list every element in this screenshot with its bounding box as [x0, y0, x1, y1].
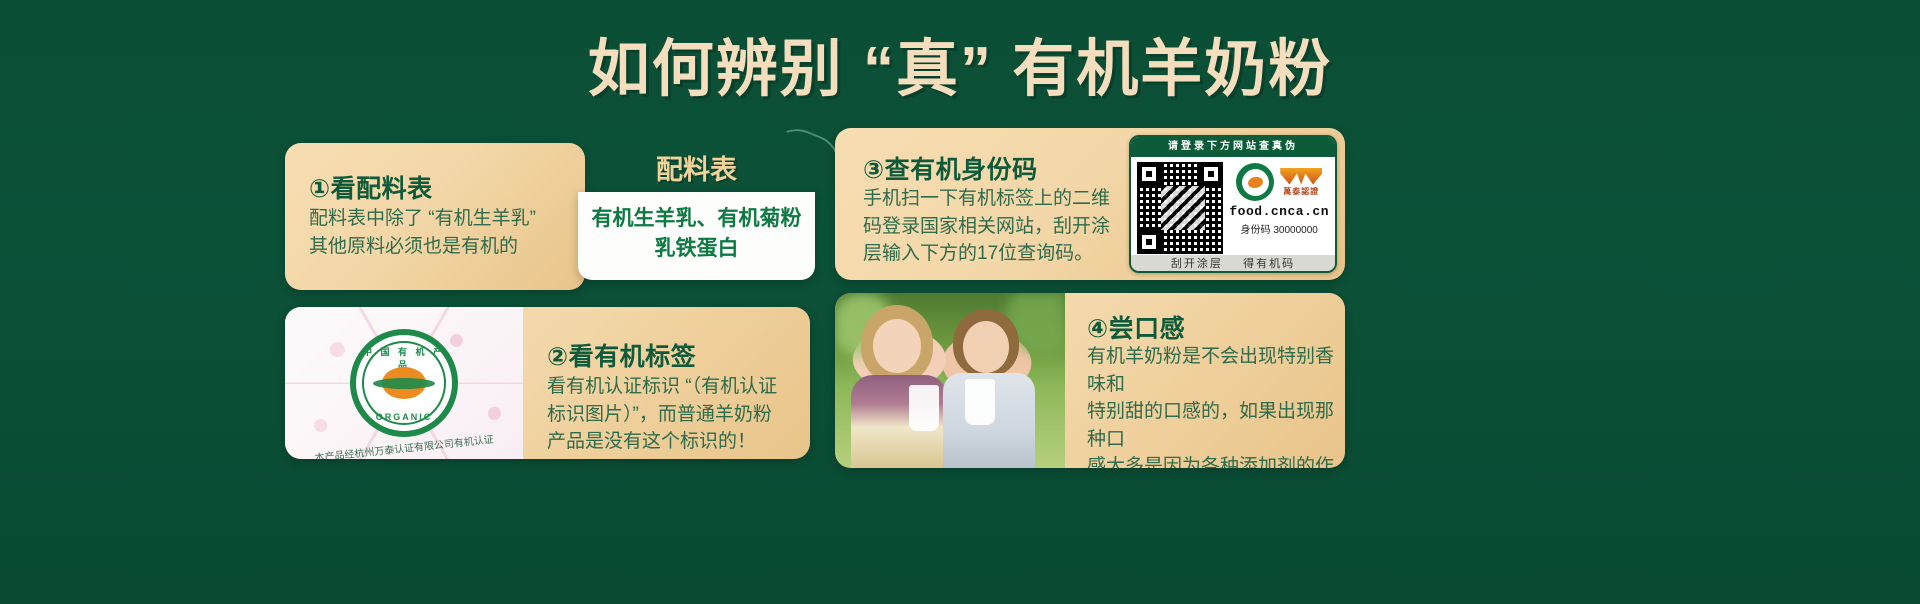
qr-eye-bottomleft: [1137, 230, 1161, 254]
card2-body-line-2: 标识图片）”，而普通羊奶粉: [547, 401, 795, 429]
wanthai-name: 萬泰認證: [1283, 186, 1319, 197]
girl-face: [873, 319, 921, 373]
card4-body-line-2: 特别甜的口感的，如果出现那种口: [1087, 398, 1337, 453]
card2-heading: ②看有机标签: [547, 337, 696, 373]
seal-orb-icon: [382, 367, 426, 399]
card2-body-line-1: 看有机认证标识 “（有机认证: [547, 373, 795, 401]
certificate-id-label: 身份码: [1241, 225, 1271, 236]
ingredients-line-1: 有机生羊乳、有机菊粉: [578, 192, 815, 234]
seal-bottom-text: ORGANIC: [356, 412, 452, 422]
certificate-footer-left: 刮开涂层: [1171, 258, 1223, 270]
certificate-right-column: 萬泰認證 food.cnca.cn 身份码 30000000: [1229, 162, 1329, 250]
card1-body-line-2: 其他原料必须也是有机的: [309, 233, 571, 261]
organic-label-image: 中 国 有 机 产 品 ORGANIC 本产品经杭州万泰认证有限公司有机认证: [285, 307, 523, 459]
infographic-root: 如何辨别 “真” 有机羊奶粉 ①看配料表 配料表中除了 “有机生羊乳” 其他原料…: [0, 0, 1920, 604]
card-see-organic-label[interactable]: 中 国 有 机 产 品 ORGANIC 本产品经杭州万泰认证有限公司有机认证 ②…: [285, 307, 810, 459]
card2-body: 看有机认证标识 “（有机认证 标识图片）”，而普通羊奶粉 产品是没有这个标识的！: [547, 373, 795, 456]
seal-inner: [1242, 169, 1269, 196]
card-taste-the-flavor[interactable]: ④尝口感 有机羊奶粉是不会出现特别香味和 特别甜的口感的，如果出现那种口 感大多…: [835, 293, 1345, 468]
china-organic-product-seal-icon: 中 国 有 机 产 品 ORGANIC: [350, 329, 458, 437]
wanthai-mark-icon: [1280, 168, 1322, 185]
card3-body-line-1: 手机扫一下有机标签上的二维: [863, 185, 1113, 213]
qr-eye-topright: [1199, 162, 1223, 186]
milk-glass-right: [965, 379, 995, 425]
ingredients-panel: 配料表 有机生羊乳、有机菊粉 乳铁蛋白: [578, 140, 815, 280]
children-drinking-milk-photo: [835, 293, 1065, 468]
card4-heading: ④尝口感: [1087, 309, 1185, 345]
qr-data-mask: [1161, 186, 1205, 230]
china-organic-seal-icon: [1236, 163, 1274, 201]
wanthai-certifier-logo: 萬泰認證: [1280, 168, 1322, 197]
card2-body-line-3: 产品是没有这个标识的！: [547, 428, 795, 456]
certificate-logos: 萬泰認證: [1236, 163, 1322, 201]
certificate-footer-right: 得有机码: [1243, 258, 1295, 270]
card3-body-line-2: 码登录国家相关网站，刮开涂: [863, 213, 1113, 241]
certificate-body: 萬泰認證 food.cnca.cn 身份码 30000000: [1131, 157, 1335, 255]
ingredients-line-2: 乳铁蛋白: [578, 234, 815, 264]
ingredients-title: 配料表: [578, 148, 815, 187]
certificate-banner: 请登录下方网站查真伪: [1131, 137, 1335, 157]
card4-body-line-3: 感大多是因为各种添加剂的作用，: [1087, 453, 1337, 468]
milk-glass-left: [909, 385, 939, 431]
card3-body: 手机扫一下有机标签上的二维 码登录国家相关网站，刮开涂 层输入下方的17位查询码…: [863, 185, 1113, 268]
card-check-organic-id-code[interactable]: ③查有机身份码 手机扫一下有机标签上的二维 码登录国家相关网站，刮开涂 层输入下…: [835, 128, 1345, 280]
card3-heading: ③查有机身份码: [863, 150, 1038, 186]
certificate-id-value: 30000000: [1273, 225, 1318, 236]
card1-body: 配料表中除了 “有机生羊乳” 其他原料必须也是有机的: [309, 205, 571, 260]
qr-eye-topleft: [1137, 162, 1161, 186]
card3-body-line-3: 层输入下方的17位查询码。: [863, 240, 1113, 268]
certificate-url: food.cnca.cn: [1229, 204, 1329, 219]
boy-face: [963, 321, 1009, 373]
card4-body: 有机羊奶粉是不会出现特别香味和 特别甜的口感的，如果出现那种口 感大多是因为各种…: [1087, 343, 1337, 468]
card4-body-line-1: 有机羊奶粉是不会出现特别香味和: [1087, 343, 1337, 398]
card1-heading: ①看配料表: [309, 169, 433, 205]
organic-certificate-label: 请登录下方网站查真伪 萬泰認證: [1129, 135, 1337, 273]
certificate-footer: 刮开涂层 得有机码: [1131, 255, 1335, 273]
card1-body-line-1: 配料表中除了 “有机生羊乳”: [309, 205, 571, 233]
page-title: 如何辨别 “真” 有机羊奶粉: [0, 18, 1920, 108]
certificate-id-line: 身份码 30000000: [1241, 221, 1318, 236]
seal-leaf-icon: [1247, 175, 1264, 189]
ingredients-box: 有机生羊乳、有机菊粉 乳铁蛋白: [578, 192, 815, 280]
card-see-ingredient-list[interactable]: ①看配料表 配料表中除了 “有机生羊乳” 其他原料必须也是有机的: [285, 143, 585, 290]
qr-code-icon: [1137, 162, 1223, 254]
